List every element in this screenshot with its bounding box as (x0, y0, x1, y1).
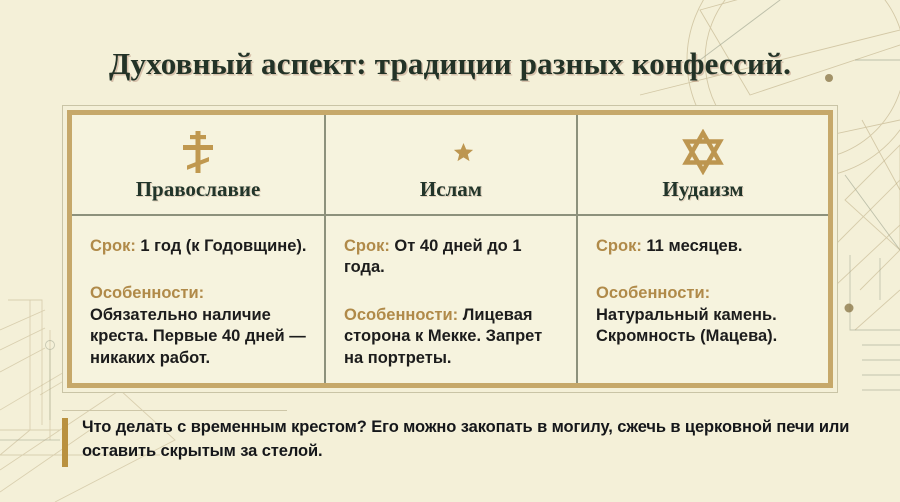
table-body-row: Срок: 1 год (к Годовщине). Особенности: … (72, 216, 828, 383)
detail-label: Особенности: (596, 283, 812, 304)
table-column-heading: Православие (136, 179, 261, 200)
detail-label: Срок: (596, 237, 642, 255)
comparison-table: Православие Ислам (62, 105, 838, 393)
detail-features: Особенности: Лицевая сторона к Мекке. За… (344, 305, 560, 369)
detail-term: Срок: От 40 дней до 1 года. (344, 236, 560, 279)
detail-term: Срок: 1 год (к Годовщине). (90, 236, 308, 257)
table-header-row: Православие Ислам (72, 115, 828, 216)
table-column-orthodoxy: Православие (72, 115, 324, 214)
detail-value: Натуральный камень. Скромность (Мацева). (596, 306, 777, 345)
page-title: Духовный аспект: традиции разных конфесс… (0, 46, 900, 82)
table-cell-judaism: Срок: 11 месяцев. Особенности:Натуральны… (576, 216, 828, 383)
footnote-rule (62, 410, 287, 411)
crescent-star-icon (427, 129, 475, 175)
slide-stage: Духовный аспект: традиции разных конфесс… (0, 0, 900, 502)
detail-value: Обязательно наличие креста. Первые 40 дн… (90, 306, 306, 367)
star-of-david-icon (680, 129, 726, 175)
orthodox-cross-icon (181, 129, 215, 175)
detail-features: Особенности:Натуральный камень. Скромнос… (596, 283, 812, 347)
footnote: Что делать с временным крестом? Его можн… (62, 416, 852, 467)
table-column-heading: Иудаизм (662, 179, 743, 200)
detail-value: 1 год (к Годовщине). (136, 237, 307, 255)
table-column-heading: Ислам (420, 179, 482, 200)
table-cell-orthodoxy: Срок: 1 год (к Годовщине). Особенности: … (72, 216, 324, 383)
table-column-judaism: Иудаизм (576, 115, 828, 214)
table-column-islam: Ислам (324, 115, 576, 214)
detail-label: Срок: (344, 237, 390, 255)
footnote-text: Что делать с временным крестом? Его можн… (82, 416, 852, 464)
detail-term: Срок: 11 месяцев. (596, 236, 812, 257)
footnote-accent-bar (62, 418, 68, 467)
detail-features: Особенности: Обязательно наличие креста.… (90, 283, 308, 369)
table-cell-islam: Срок: От 40 дней до 1 года. Особенности:… (324, 216, 576, 383)
detail-label: Срок: (90, 237, 136, 255)
detail-value: 11 месяцев. (642, 237, 743, 255)
detail-label: Особенности: (90, 284, 204, 302)
detail-label: Особенности: (344, 306, 458, 324)
